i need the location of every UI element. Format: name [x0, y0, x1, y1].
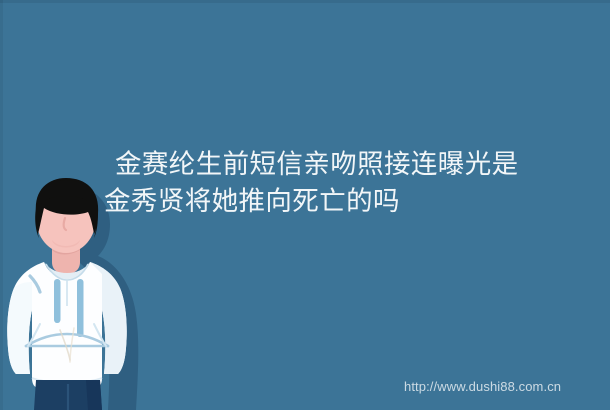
drawstring-left — [54, 279, 61, 323]
hoodie-shade-left — [7, 282, 32, 374]
headline-line-2: 金秀贤将她推向死亡的吗 — [104, 183, 604, 220]
pants-shade-right — [86, 380, 102, 410]
watermark-url: http://www.dushi88.com.cn — [404, 379, 561, 394]
drawstring-right — [77, 279, 84, 337]
headline-line-1: 金赛纶生前短信亲吻照接连曝光是 — [104, 146, 604, 183]
image-canvas: 金赛纶生前短信亲吻照接连曝光是 金秀贤将她推向死亡的吗 http://www.d… — [0, 0, 610, 410]
headline-text: 金赛纶生前短信亲吻照接连曝光是 金秀贤将她推向死亡的吗 — [104, 146, 604, 220]
top-edge-shade — [0, 0, 610, 3]
